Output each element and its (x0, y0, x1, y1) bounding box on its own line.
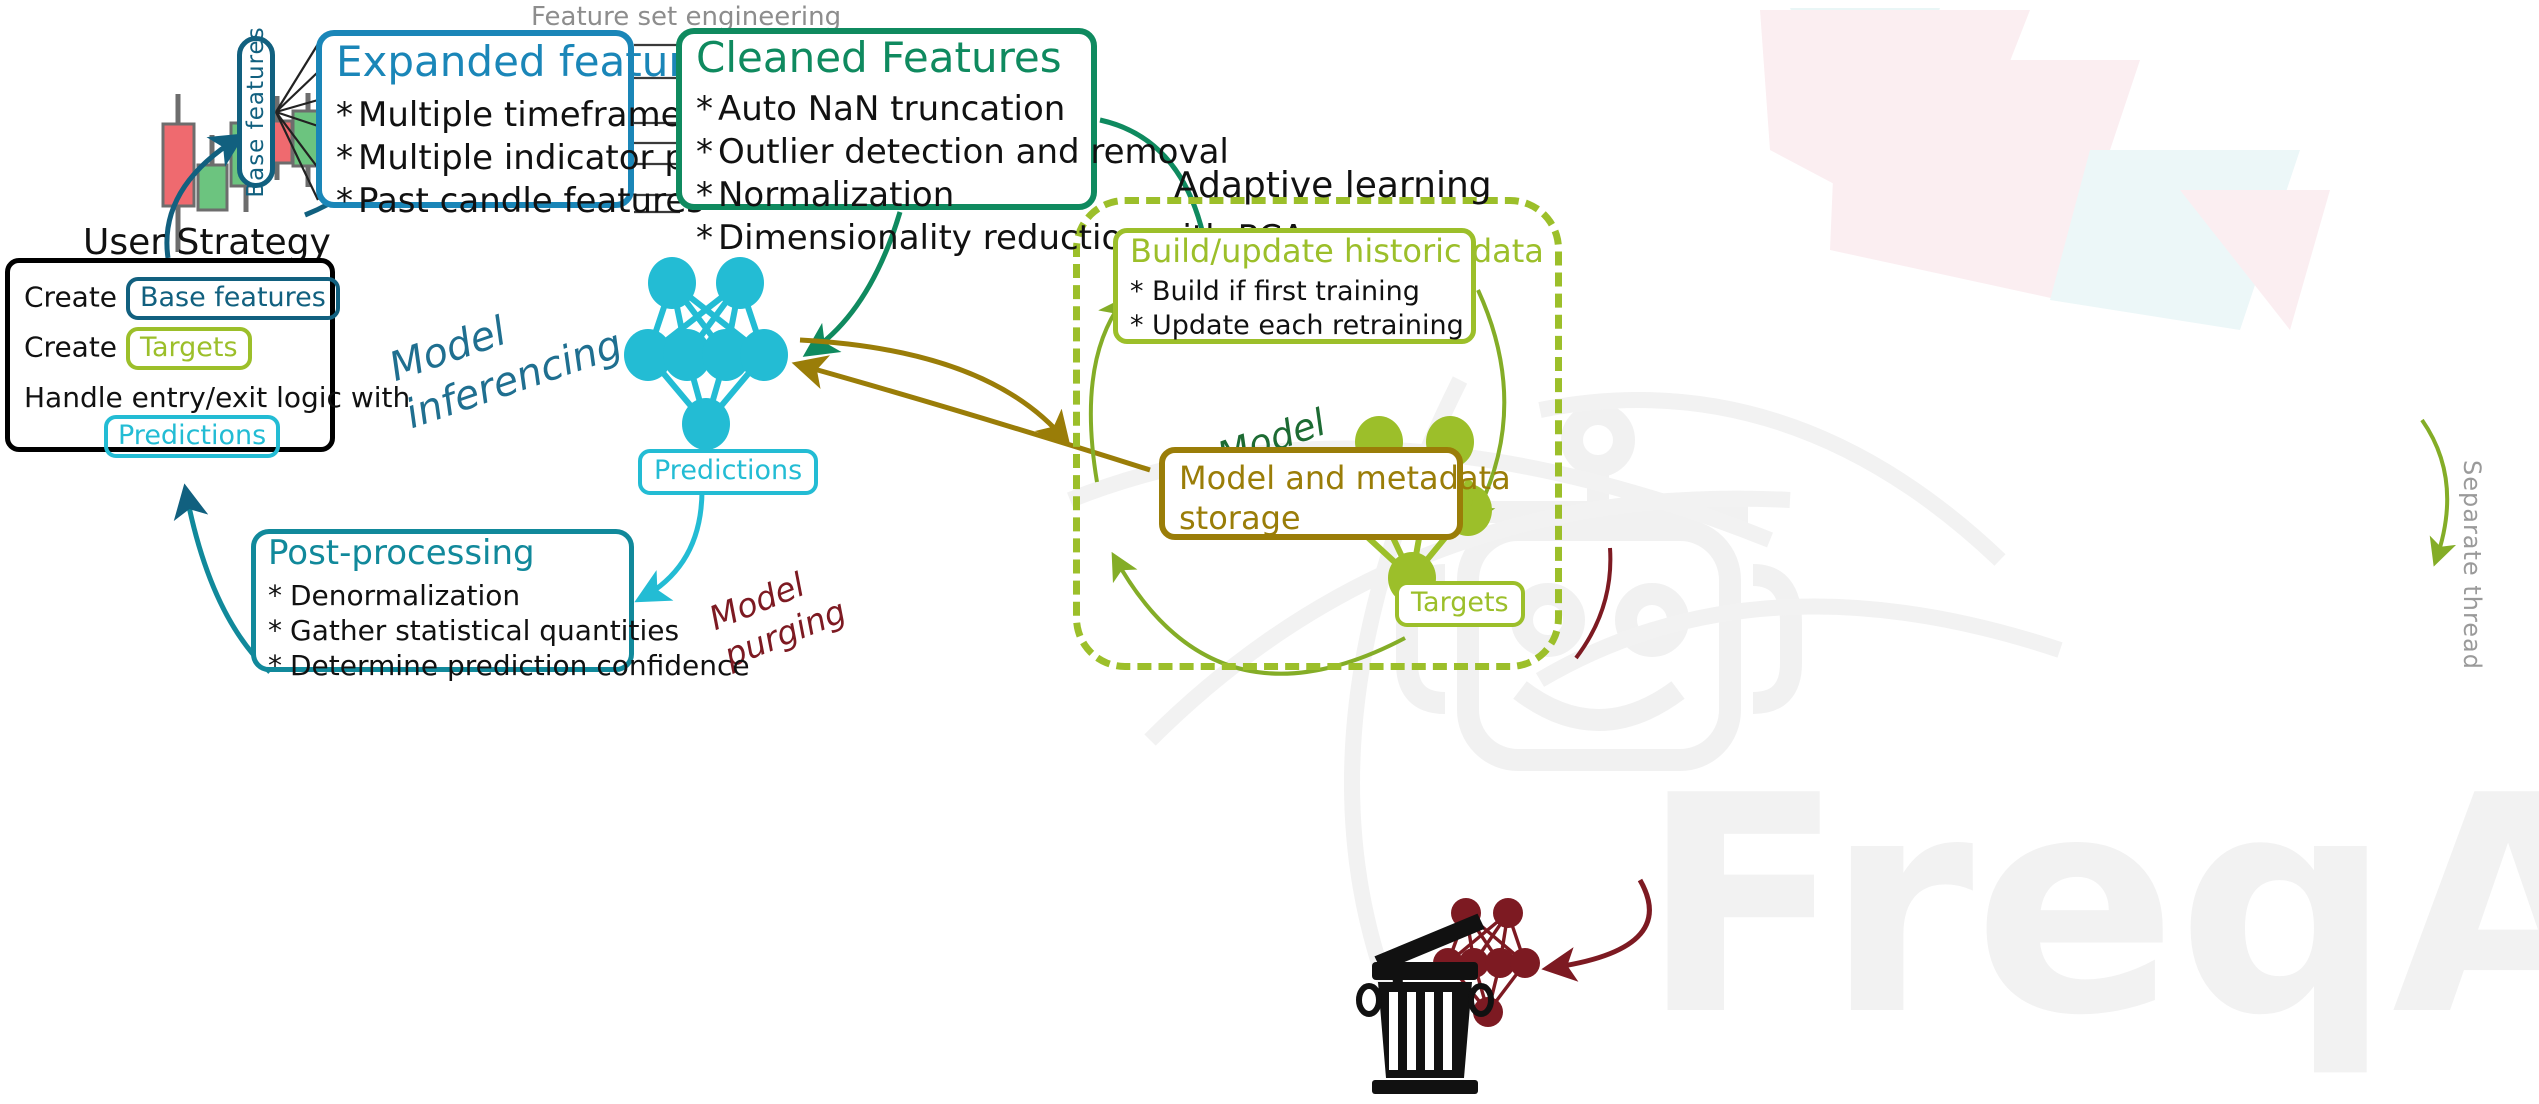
arrow-separate-thread (2422, 420, 2447, 560)
list-item: *Denormalization (268, 578, 629, 613)
cleaned-features-title: Cleaned Features (696, 36, 1091, 80)
adaptive-learning-label: Adaptive learning (1174, 165, 1492, 206)
strategy-row-base-features: Create Base features (24, 277, 340, 320)
arrow-inference-to-storage (800, 340, 1065, 440)
chip-base-features[interactable]: Base features (126, 277, 340, 320)
list-item: *Past candle features (336, 180, 628, 223)
model-metadata-storage-card[interactable]: Model and metadata storage (1159, 447, 1463, 540)
model-storage-text: Model and metadata storage (1179, 459, 1511, 538)
build-update-historic-data-card[interactable]: Build/update historic data *Build if fir… (1113, 228, 1476, 344)
list-item: *Determine prediction confidence (268, 648, 629, 683)
list-item: *Normalization (696, 174, 1091, 217)
predictions-chip[interactable]: Predictions (638, 449, 818, 495)
list-item: *Multiple timeframes (336, 94, 628, 137)
post-processing-card[interactable]: Post-processing *Denormalization *Gather… (251, 529, 634, 672)
arrow-predictions-to-postprocessing (642, 490, 702, 598)
neural-network-icon-inference (624, 257, 788, 450)
line-storage-down-purge (1576, 548, 1610, 658)
list-item: *Update each retraining (1130, 309, 1471, 343)
list-item: *Multiple indicator periods (336, 137, 628, 180)
create-label-1: Create (24, 281, 117, 314)
strategy-row-predictions: Predictions (104, 415, 280, 458)
post-processing-title: Post-processing (268, 536, 629, 572)
expanded-features-card[interactable]: Expanded features *Multiple timeframes *… (316, 30, 634, 208)
model-storage-line2: storage (1179, 499, 1511, 539)
user-strategy-card[interactable]: Create Base features Create Targets Hand… (5, 258, 335, 452)
user-strategy-title: User Strategy (83, 222, 331, 263)
build-update-list: *Build if first training *Update each re… (1130, 275, 1471, 343)
strategy-row-targets: Create Targets (24, 327, 252, 370)
post-processing-list: *Denormalization *Gather statistical qua… (268, 578, 629, 684)
cleaned-features-card[interactable]: Cleaned Features *Auto NaN truncation *O… (676, 28, 1097, 210)
build-update-title: Build/update historic data (1130, 235, 1471, 269)
chip-targets[interactable]: Targets (126, 327, 252, 370)
list-item: *Dimensionality reduction with PCA (696, 217, 1091, 260)
list-item: *Gather statistical quantities (268, 613, 629, 648)
strategy-row-entry-exit: Handle entry/exit logic with (24, 381, 410, 414)
model-storage-line1: Model and metadata (1179, 459, 1511, 499)
list-item: *Auto NaN truncation (696, 88, 1091, 131)
base-features-label: Base features (243, 26, 269, 197)
expanded-features-list: *Multiple timeframes *Multiple indicator… (336, 94, 628, 222)
separate-thread-label: Separate thread (2458, 460, 2486, 670)
diagram-canvas: FreqAI (0, 0, 2539, 1104)
base-features-pill[interactable]: Base features (237, 36, 275, 188)
cleaned-features-list: *Auto NaN truncation *Outlier detection … (696, 88, 1091, 259)
candle-up (198, 165, 227, 210)
arrow-storage-to-purge (1550, 880, 1649, 968)
chip-predictions[interactable]: Predictions (104, 415, 280, 458)
list-item: *Outlier detection and removal (696, 131, 1091, 174)
list-item: *Build if first training (1130, 275, 1471, 309)
targets-chip[interactable]: Targets (1395, 581, 1525, 627)
create-label-2: Create (24, 331, 117, 364)
expanded-features-title: Expanded features (336, 40, 628, 84)
